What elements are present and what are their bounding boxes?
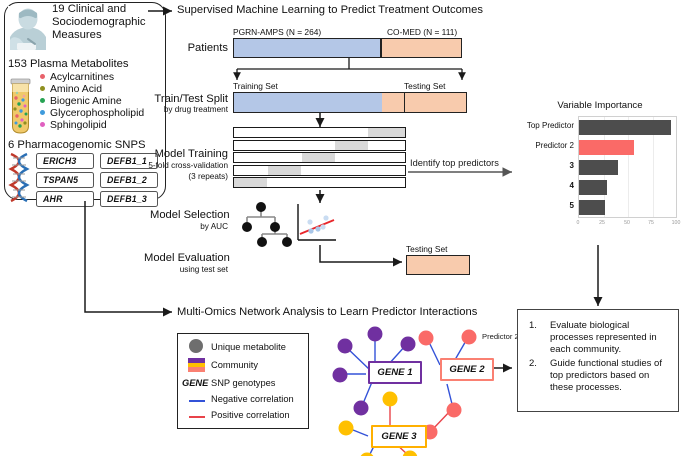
legend-snp-label: SNP genotypes bbox=[211, 378, 275, 389]
cohort-2-label: CO-MED (N = 111) bbox=[387, 28, 457, 38]
legend-negative-label: Negative correlation bbox=[211, 394, 294, 405]
chart-xtick: 0 bbox=[572, 220, 584, 226]
testing-set-caption: Testing Set bbox=[404, 82, 445, 92]
conclusion-number: 2. bbox=[529, 358, 537, 369]
cv-train-segment bbox=[234, 141, 335, 150]
legend-negative-line-icon bbox=[189, 400, 205, 402]
cv-train-segment bbox=[234, 128, 368, 137]
chart-category-label: 3 bbox=[510, 161, 574, 170]
training-row-sublabel-1: 5-fold cross-validation bbox=[134, 161, 228, 171]
patients-cohort2-bar bbox=[381, 38, 462, 58]
chart-plot-area bbox=[578, 116, 677, 218]
gene-node-1: GENE 1 bbox=[368, 361, 422, 384]
legend-gene-word: GENE bbox=[182, 378, 208, 389]
cv-train-segment bbox=[368, 141, 405, 150]
cv-holdout-segment bbox=[302, 153, 335, 162]
legend-metabolite-label: Unique metabolite bbox=[211, 342, 286, 353]
gene-node-2: GENE 2 bbox=[440, 358, 494, 381]
evaluation-test-caption: Testing Set bbox=[406, 245, 447, 255]
cv-holdout-segment bbox=[268, 166, 301, 175]
legend-positive-label: Positive correlation bbox=[211, 410, 290, 421]
split-row-sublabel: by drug treatment bbox=[152, 105, 228, 115]
chart-bar bbox=[579, 160, 618, 175]
chart-category-label: Predictor 2 bbox=[510, 141, 574, 150]
chart-title: Variable Importance bbox=[520, 100, 680, 111]
chart-xtick: 75 bbox=[645, 220, 657, 226]
cv-holdout-segment bbox=[335, 141, 368, 150]
chart-category-label: Top Predictor bbox=[510, 121, 574, 130]
conclusion-text: Evaluate biological processes represente… bbox=[550, 320, 668, 356]
legend-community-label: Community bbox=[211, 360, 258, 371]
selection-row-sublabel: by AUC bbox=[150, 222, 228, 232]
legend-community-icon bbox=[188, 358, 205, 372]
chart-xtick: 25 bbox=[596, 220, 608, 226]
predictor-2-annotation: Predictor 2 bbox=[482, 333, 519, 342]
chart-xtick: 50 bbox=[621, 220, 633, 226]
training-set-caption: Training Set bbox=[233, 82, 278, 92]
cv-folds-group bbox=[233, 127, 406, 188]
cohort-1-label: PGRN-AMPS (N = 264) bbox=[233, 28, 321, 38]
train-split-bar bbox=[233, 92, 407, 113]
evaluation-test-bar bbox=[406, 255, 470, 275]
conclusions-box: 1. Evaluate biological processes represe… bbox=[517, 309, 679, 412]
legend-metabolite-icon bbox=[189, 339, 203, 353]
cv-train-segment bbox=[234, 166, 268, 175]
chart-bar bbox=[579, 120, 671, 135]
gene-node-3: GENE 3 bbox=[371, 425, 427, 448]
legend-positive-line-icon bbox=[189, 416, 205, 418]
chart-category-label: 4 bbox=[510, 181, 574, 190]
training-row-label: Model Training bbox=[146, 148, 228, 161]
test-split-bar bbox=[404, 92, 467, 113]
conclusion-text: Guide functional studies of top predicto… bbox=[550, 358, 668, 394]
cv-holdout-segment bbox=[234, 178, 267, 187]
cv-train-segment bbox=[301, 166, 405, 175]
cv-fold-row bbox=[233, 152, 406, 163]
chart-bar bbox=[579, 140, 634, 155]
roc-scatter-icon bbox=[292, 202, 342, 246]
evaluation-row-label: Model Evaluation bbox=[144, 252, 228, 265]
cv-train-segment bbox=[335, 153, 405, 162]
cv-fold-row bbox=[233, 165, 406, 176]
cv-train-segment bbox=[267, 178, 405, 187]
variable-importance-chart: Variable Importance Top Predictor Predic… bbox=[520, 100, 680, 245]
identify-predictors-label: Identify top predictors bbox=[410, 158, 499, 169]
chart-category-label: 5 bbox=[510, 201, 574, 210]
train-peach-segment bbox=[382, 93, 406, 112]
train-blue-segment bbox=[234, 93, 382, 112]
cv-train-segment bbox=[234, 153, 302, 162]
conclusion-number: 1. bbox=[529, 320, 537, 331]
cv-holdout-segment bbox=[368, 128, 405, 137]
evaluation-row-sublabel: using test set bbox=[144, 265, 228, 275]
patients-row-label: Patients bbox=[170, 42, 228, 55]
cv-fold-row bbox=[233, 127, 406, 138]
training-row-sublabel-2: (3 repeats) bbox=[134, 172, 228, 182]
cv-fold-row bbox=[233, 140, 406, 151]
patients-cohort1-bar bbox=[233, 38, 381, 58]
chart-bar bbox=[579, 200, 605, 215]
cv-fold-row bbox=[233, 177, 406, 188]
chart-xtick: 100 bbox=[670, 220, 682, 226]
ml-section-title: Supervised Machine Learning to Predict T… bbox=[177, 4, 483, 17]
decision-tree-icon bbox=[237, 200, 285, 245]
selection-row-label: Model Selection bbox=[150, 209, 228, 222]
chart-bar bbox=[579, 180, 607, 195]
